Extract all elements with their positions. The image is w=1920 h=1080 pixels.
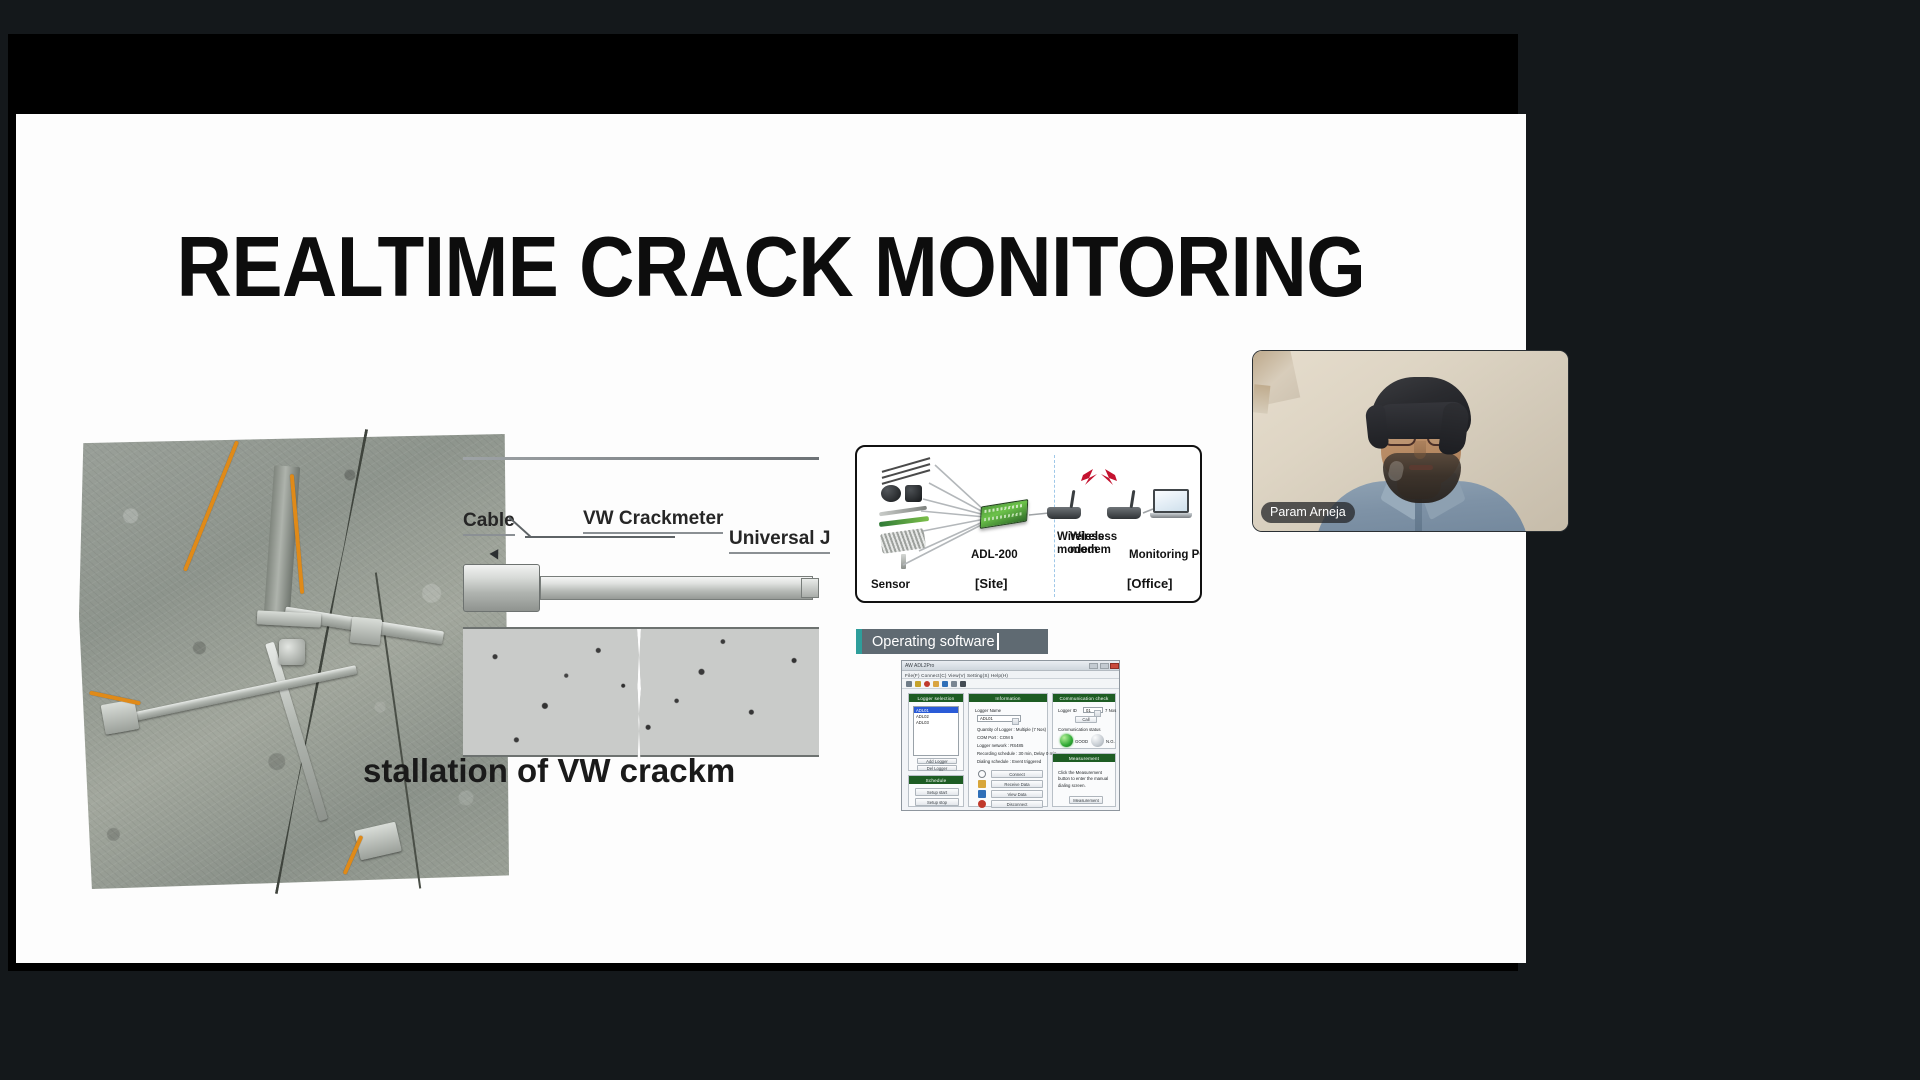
information-header: Information bbox=[969, 694, 1047, 702]
label-cable: Cable bbox=[463, 510, 515, 536]
minimize-button[interactable] bbox=[1089, 663, 1098, 669]
mounting-plate bbox=[101, 699, 140, 734]
logger-selection-header: Logger selection bbox=[909, 694, 963, 702]
adl200-system-diagram: Wireless modem ADL-200 Sensor [Site] Wir… bbox=[855, 445, 1202, 603]
status-good-label: GOOD bbox=[1075, 739, 1088, 744]
info-row: Quantity of Logger : Multiple (7 Nos) bbox=[977, 727, 1046, 732]
label-monitoring-pc: Monitoring PC bbox=[1129, 549, 1202, 562]
crackmeter-housing bbox=[463, 564, 540, 612]
label-wireless-modem-office: Wireless modem bbox=[1070, 531, 1117, 557]
app-window-title: AW ADL2Pro bbox=[905, 663, 934, 669]
settings-icon[interactable] bbox=[951, 681, 957, 687]
operating-software-label: Operating software bbox=[862, 634, 995, 650]
crackmeter-installation-photo bbox=[79, 434, 509, 889]
print-icon[interactable] bbox=[960, 681, 966, 687]
vw-crackmeter-drawing: Cable VW Crackmeter Universal J stallati… bbox=[463, 452, 819, 812]
drawing-top-rule bbox=[463, 457, 819, 460]
logger-list[interactable]: ADL01 ADL02 ADL03 bbox=[913, 706, 959, 756]
status-ng-label: N.G. bbox=[1106, 739, 1115, 744]
communication-check-panel: Communication check Logger ID 01 7 Nos C… bbox=[1052, 693, 1116, 749]
window-controls[interactable] bbox=[1089, 663, 1119, 669]
label-line-2: modem bbox=[1070, 544, 1111, 556]
drawing-caption: stallation of VW crackm bbox=[363, 752, 923, 790]
receive-data-button[interactable]: Receive Data bbox=[991, 780, 1043, 788]
app-toolbar[interactable] bbox=[902, 679, 1120, 689]
mounting-plate bbox=[350, 617, 383, 646]
turban-side-fold bbox=[1438, 402, 1470, 457]
logger-name-combo[interactable]: ADL01 bbox=[977, 715, 1021, 722]
wall-trim bbox=[1253, 384, 1270, 414]
load-cell-icon bbox=[905, 485, 922, 502]
status-good-indicator bbox=[1060, 734, 1073, 747]
concrete-section bbox=[463, 627, 819, 757]
sensor-group-icon bbox=[879, 459, 937, 567]
text-caret bbox=[997, 633, 999, 650]
crackmeter-rod bbox=[540, 576, 813, 600]
info-row: Logger network : RS485 bbox=[977, 743, 1023, 748]
disconnect-icon[interactable] bbox=[924, 681, 930, 687]
label-site-zone: [Site] bbox=[975, 577, 1008, 592]
setup-stop-button[interactable]: Setup stop bbox=[915, 798, 959, 806]
wireless-modem-office-icon bbox=[1107, 507, 1141, 519]
screen-share-page: REALTIME CRACK MONITORING bbox=[0, 0, 1920, 1080]
receive-icon[interactable] bbox=[933, 681, 939, 687]
connect-button[interactable]: Connect bbox=[991, 770, 1043, 778]
section-crack bbox=[637, 629, 641, 759]
view-data-button[interactable]: View Data bbox=[991, 790, 1043, 798]
participant-name-badge: Param Arneja bbox=[1261, 502, 1355, 523]
leader-line bbox=[525, 536, 675, 538]
del-logger-button[interactable]: Del Logger bbox=[917, 765, 957, 771]
measurement-button[interactable]: Measurement bbox=[1069, 796, 1103, 804]
app-workspace: Logger selection ADL01 ADL02 ADL03 Add L… bbox=[902, 689, 1120, 811]
schedule-header: Schedule bbox=[909, 776, 963, 784]
monitoring-pc-icon bbox=[1150, 489, 1192, 521]
crackmeter-icon bbox=[879, 516, 929, 527]
piezometer-icon bbox=[881, 485, 901, 502]
label-line-1: Wireless bbox=[1070, 531, 1117, 543]
info-row: COM Port : COM 5 bbox=[977, 735, 1013, 740]
schedule-panel: Schedule Setup start Setup stop bbox=[908, 775, 964, 807]
connect-icon[interactable] bbox=[906, 681, 912, 687]
app-menubar[interactable]: File(F) Connect(C) View(V) Setting(S) He… bbox=[902, 671, 1120, 679]
information-panel: Information Logger Name ADL01 Quantity o… bbox=[968, 693, 1048, 807]
adl-200-datalogger-icon bbox=[980, 499, 1029, 529]
participant-figure bbox=[1331, 369, 1507, 531]
label-universal-joint: Universal J bbox=[729, 528, 830, 554]
label-office-zone: [Office] bbox=[1127, 577, 1173, 592]
call-button[interactable]: Call bbox=[1075, 716, 1097, 723]
label-sensor: Sensor bbox=[871, 579, 910, 592]
label-adl-200: ADL-200 bbox=[971, 549, 1018, 562]
operating-software-banner: Operating software bbox=[856, 629, 1048, 654]
logger-id-label: Logger ID bbox=[1058, 708, 1077, 713]
info-row: Dialing schedule : Event triggered bbox=[977, 759, 1041, 764]
chart-icon bbox=[978, 790, 986, 798]
disconnect-button[interactable]: Disconnect bbox=[991, 800, 1043, 808]
crackmeter-hub bbox=[279, 639, 305, 665]
communication-status-label: Communication status bbox=[1058, 727, 1101, 732]
presentation-slide[interactable]: REALTIME CRACK MONITORING bbox=[16, 114, 1526, 963]
logger-list-item[interactable]: ADL03 bbox=[914, 719, 958, 725]
settlement-sensor-icon bbox=[901, 554, 906, 569]
logger-name-label: Logger Name bbox=[975, 708, 1001, 713]
operating-software-screenshot: AW ADL2Pro File(F) Connect(C) View(V) Se… bbox=[901, 660, 1120, 811]
measurement-header: Measurement bbox=[1053, 754, 1115, 762]
measurement-note: Click the Measurement button to enter th… bbox=[1058, 770, 1112, 789]
participant-video-tile[interactable]: Param Arneja bbox=[1253, 351, 1568, 531]
add-logger-button[interactable]: Add Logger bbox=[917, 758, 957, 764]
open-icon[interactable] bbox=[915, 681, 921, 687]
communication-check-header: Communication check bbox=[1053, 694, 1115, 702]
leader-arrowhead-icon bbox=[489, 549, 502, 562]
logger-id-unit: 7 Nos bbox=[1105, 708, 1116, 713]
info-row: Recording schedule : 30 min, Delay 0 min bbox=[977, 751, 1057, 756]
slide-title: REALTIME CRACK MONITORING bbox=[92, 219, 1451, 317]
wireless-signal-bolt-icon bbox=[1101, 469, 1117, 485]
close-button[interactable] bbox=[1110, 663, 1119, 669]
logger-selection-panel: Logger selection ADL01 ADL02 ADL03 Add L… bbox=[908, 693, 964, 771]
lock-icon bbox=[978, 780, 986, 788]
view-data-icon[interactable] bbox=[942, 681, 948, 687]
site-office-divider bbox=[1054, 455, 1055, 597]
disconnect-icon bbox=[978, 800, 986, 808]
setup-start-button[interactable]: Setup start bbox=[915, 788, 959, 796]
wireless-signal-bolt-icon bbox=[1081, 469, 1097, 485]
connect-gear-icon bbox=[978, 770, 986, 778]
crackmeter-joint-tip bbox=[801, 578, 819, 598]
label-vw-crackmeter: VW Crackmeter bbox=[583, 508, 723, 534]
measurement-panel: Measurement Click the Measurement button… bbox=[1052, 753, 1116, 807]
strain-gauge-icon bbox=[881, 461, 933, 479]
maximize-button[interactable] bbox=[1100, 663, 1109, 669]
extensometer-icon bbox=[880, 528, 926, 554]
app-titlebar: AW ADL2Pro bbox=[902, 661, 1120, 671]
wireless-modem-site-icon bbox=[1047, 507, 1081, 519]
logger-id-combo[interactable]: 01 bbox=[1083, 707, 1103, 713]
shirt-placket bbox=[1415, 499, 1422, 531]
mouth bbox=[1409, 465, 1433, 470]
status-ng-indicator bbox=[1091, 734, 1104, 747]
tiltmeter-icon bbox=[879, 506, 927, 517]
